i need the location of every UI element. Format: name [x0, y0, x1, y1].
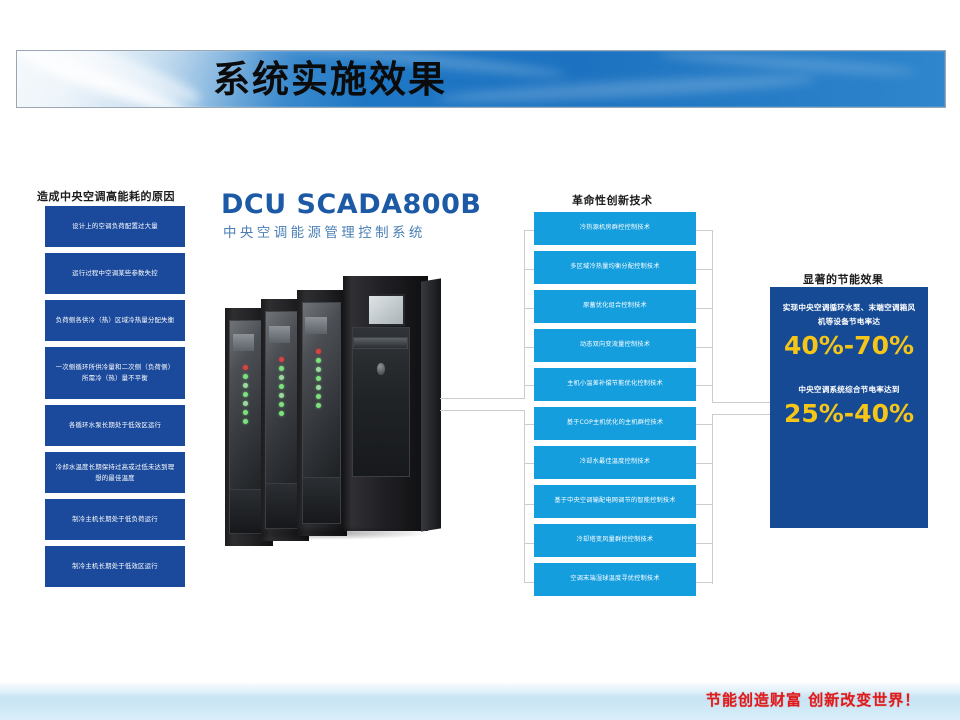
connector-line [696, 463, 713, 464]
connector-line [440, 398, 525, 399]
cabinet-led-strip [279, 357, 283, 444]
cause-item[interactable]: 运行过程中空调某些参数失控 [45, 253, 185, 294]
tech-item[interactable]: 基于中央空调输配电网调节的智能控制技术 [534, 485, 696, 518]
cabinet-body-panel [352, 327, 410, 477]
cabinet-vent-slot [353, 337, 408, 349]
connector-line [696, 504, 713, 505]
connector-line [524, 230, 525, 399]
cabinet-lower-door [302, 477, 341, 523]
connector-line [696, 582, 713, 583]
title-banner: 系统实施效果 [16, 50, 946, 108]
cloud-streak-icon [437, 71, 817, 107]
cabinet-unit-main [343, 276, 428, 531]
connector-line [712, 414, 713, 584]
connector-line [696, 308, 713, 309]
tech-item[interactable]: 动态双向变流量控制技术 [534, 329, 696, 362]
slide-canvas: 系统实施效果 造成中央空调高能耗的原因 设计上的空调负荷配置过大量 运行过程中空… [0, 0, 960, 720]
right-panel-heading: 显著的节能效果 [803, 271, 884, 287]
tech-item[interactable]: 冷却水最佳温度控制技术 [534, 446, 696, 479]
cabinet-display-screen [367, 294, 405, 326]
tech-item[interactable]: 冷热源机房群控控制技术 [534, 212, 696, 245]
savings-block: 中央空调系统综合节电率达到 25%-40% [780, 383, 918, 427]
control-cabinets-image [225, 268, 440, 558]
cabinet-lock-knob-icon [377, 363, 385, 376]
tech-item[interactable]: 基于COP主机优化的主机群控技术 [534, 407, 696, 440]
connector-line [712, 414, 770, 415]
cabinet-side-face [421, 278, 441, 531]
cloud-streak-icon [657, 50, 917, 78]
savings-percent: 25%-40% [780, 401, 918, 427]
connector-line [696, 424, 713, 425]
tech-item[interactable]: 多区域冷热量均衡分配控制技术 [534, 251, 696, 284]
savings-percent: 40%-70% [780, 333, 918, 359]
product-subtitle: 中央空调能源管理控制系统 [223, 221, 426, 241]
cause-item[interactable]: 各循环水泵长期处于低效区运行 [45, 405, 185, 446]
savings-panel: 实现中央空调循环水泵、末端空调箱风机等设备节电率达 40%-70% 中央空调系统… [770, 287, 928, 528]
cabinet-control-panel [233, 334, 254, 351]
cause-item[interactable]: 冷却水温度长期保持过高或过低未达到理想的最佳温度 [45, 452, 185, 493]
tech-item[interactable]: 冷却塔变风量群控控制技术 [534, 524, 696, 557]
connector-line [712, 230, 713, 402]
product-title: DCU SCADA800B [221, 189, 481, 220]
savings-description: 中央空调系统综合节电率达到 [780, 383, 918, 397]
connector-line [696, 543, 713, 544]
cause-item[interactable]: 设计上的空调负荷配置过大量 [45, 206, 185, 247]
causes-list: 设计上的空调负荷配置过大量 运行过程中空调某些参数失控 负荷侧各供冷（热）区域冷… [45, 206, 185, 593]
connector-line [440, 410, 525, 411]
cabinet-control-panel [269, 326, 290, 343]
connector-line [696, 385, 713, 386]
tech-item[interactable]: 主机小温差补偿节能优化控制技术 [534, 368, 696, 401]
cabinet-unit [297, 290, 347, 536]
savings-description: 实现中央空调循环水泵、末端空调箱风机等设备节电率达 [780, 301, 918, 329]
cabinet-led-strip [243, 365, 247, 451]
left-column-heading: 造成中央空调高能耗的原因 [37, 188, 175, 204]
connector-line [696, 347, 713, 348]
savings-block: 实现中央空调循环水泵、末端空调箱风机等设备节电率达 40%-70% [780, 301, 918, 359]
cabinet-control-panel [305, 317, 327, 334]
technologies-list: 冷热源机房群控控制技术 多区域冷热量均衡分配控制技术 原蓄优化组合控制技术 动态… [534, 212, 696, 602]
cabinet-shadow [227, 526, 431, 540]
cause-item[interactable]: 一次侧循环所供冷量和二次侧（负荷侧）所需冷（热）量不平衡 [45, 347, 185, 399]
tech-item[interactable]: 原蓄优化组合控制技术 [534, 290, 696, 323]
cause-item[interactable]: 负荷侧各供冷（热）区域冷热量分配失衡 [45, 300, 185, 341]
middle-column-heading: 革命性创新技术 [572, 192, 653, 208]
cause-item[interactable]: 制冷主机长期处于低效区运行 [45, 546, 185, 587]
footer-slogan: 节能创造财富 创新改变世界！ [706, 689, 920, 710]
savings-divider [780, 359, 918, 383]
slide-title: 系统实施效果 [213, 52, 447, 106]
connector-line [524, 410, 525, 582]
connector-line [696, 269, 713, 270]
tech-item[interactable]: 空调末端湿球温度寻优控制技术 [534, 563, 696, 596]
cause-item[interactable]: 制冷主机长期处于低负荷运行 [45, 499, 185, 540]
cabinet-led-strip [316, 349, 320, 438]
connector-line [696, 230, 713, 231]
connector-line [712, 402, 770, 403]
